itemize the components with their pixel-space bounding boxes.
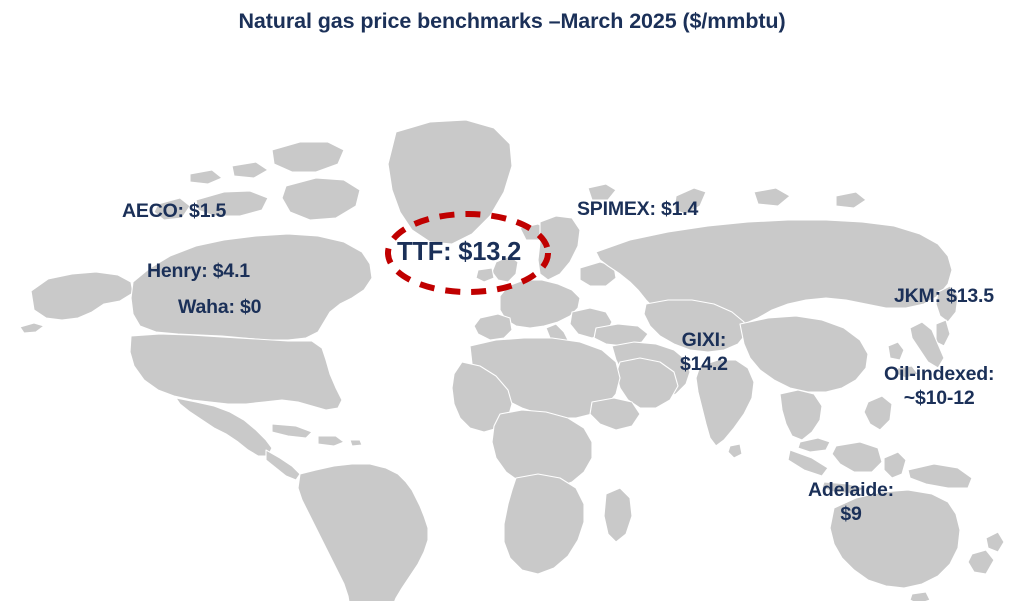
price-label-henry: Henry: $4.1 xyxy=(147,260,250,283)
land-western-europe xyxy=(500,280,580,328)
land-new-zealand-s xyxy=(968,550,994,574)
land-usa xyxy=(130,334,342,410)
price-label-ttf: TTF: $13.2 xyxy=(397,238,521,267)
land-greenland xyxy=(388,120,512,244)
price-label-adelaide-line1: Adelaide: xyxy=(808,478,894,502)
price-label-gixi-line1: GIXI: xyxy=(680,328,728,352)
land-arctic-small-1 xyxy=(232,162,268,178)
land-korea xyxy=(888,342,904,360)
land-southern-africa xyxy=(504,474,584,574)
land-new-zealand-n xyxy=(986,532,1004,552)
land-china xyxy=(740,316,868,392)
price-label-aeco: AECO: $1.5 xyxy=(122,200,226,223)
price-label-oil-indexed-line1: Oil-indexed: xyxy=(884,362,994,386)
price-label-oil-indexed: Oil-indexed: ~$10-12 xyxy=(884,362,994,411)
land-sulawesi xyxy=(884,452,906,478)
land-puerto-rico xyxy=(350,440,362,446)
land-borneo xyxy=(832,442,882,472)
price-label-jkm: JKM: $13.5 xyxy=(894,285,994,308)
land-aleutians xyxy=(20,323,44,333)
land-new-guinea xyxy=(908,464,972,488)
land-iberia xyxy=(474,314,512,340)
land-ireland xyxy=(476,268,494,282)
land-east-africa-horn xyxy=(590,398,640,430)
land-sumatra xyxy=(788,450,828,476)
land-baffin xyxy=(282,178,360,220)
land-hispaniola xyxy=(318,436,344,446)
land-malaysia xyxy=(798,438,830,452)
land-scandinavia xyxy=(538,216,580,280)
land-arctic-russia-2 xyxy=(836,192,866,208)
page-title: Natural gas price benchmarks –March 2025… xyxy=(0,9,1024,34)
land-cuba xyxy=(272,424,312,438)
price-label-gixi-line2: $14.2 xyxy=(680,352,728,376)
land-alaska xyxy=(31,272,133,320)
land-arctic-russia-1 xyxy=(754,188,790,206)
land-south-america xyxy=(298,464,428,601)
land-madagascar xyxy=(604,488,632,542)
price-label-waha: Waha: $0 xyxy=(178,296,261,319)
land-tasmania xyxy=(910,592,930,601)
map-landmasses xyxy=(20,120,1004,601)
price-label-gixi: GIXI: $14.2 xyxy=(680,328,728,377)
price-label-adelaide-line2: $9 xyxy=(808,502,894,526)
land-central-america xyxy=(266,450,300,480)
land-arctic-small-2 xyxy=(190,170,222,184)
price-label-adelaide: Adelaide: $9 xyxy=(808,478,894,527)
land-mexico xyxy=(176,398,272,456)
land-canada xyxy=(131,234,372,340)
land-sri-lanka xyxy=(728,444,742,458)
price-label-oil-indexed-line2: ~$10-12 xyxy=(884,386,994,410)
land-ellesmere xyxy=(272,142,344,172)
land-indochina xyxy=(780,390,822,440)
land-sakhalin xyxy=(936,320,950,346)
price-label-spimex: SPIMEX: $1.4 xyxy=(577,198,698,221)
slide-canvas: Natural gas price benchmarks –March 2025… xyxy=(0,0,1024,601)
